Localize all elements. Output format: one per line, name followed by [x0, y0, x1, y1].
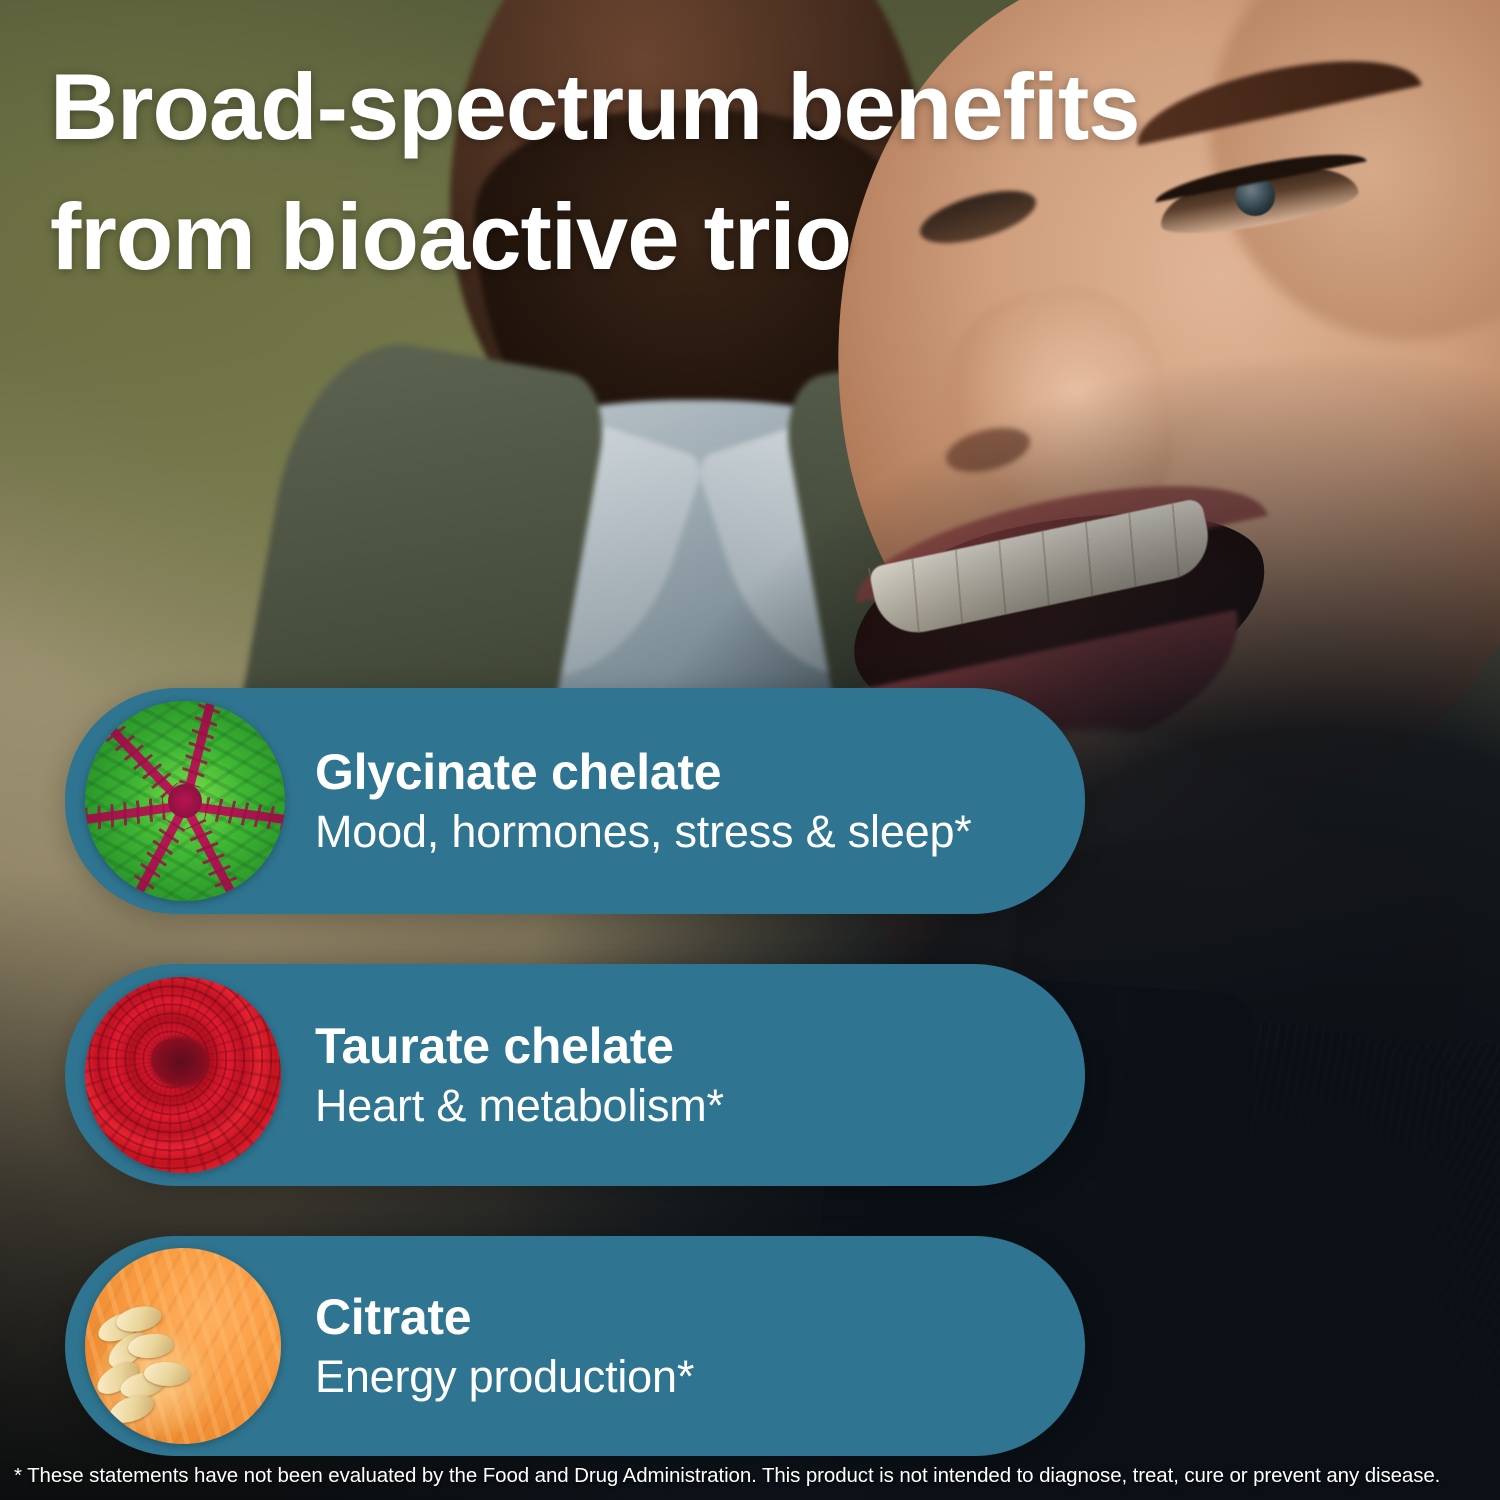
headline-line-1: Broad-spectrum benefits — [50, 54, 1140, 159]
benefit-card-taurate[interactable]: Taurate chelate Heart & metabolism* — [65, 964, 1085, 1186]
benefit-title: Taurate chelate — [315, 1019, 724, 1073]
benefit-title: Glycinate chelate — [315, 745, 972, 799]
benefit-card-text: Taurate chelate Heart & metabolism* — [315, 1019, 764, 1131]
benefit-card-list: Glycinate chelate Mood, hormones, stress… — [0, 688, 1100, 1500]
chard-leaf-icon — [85, 701, 285, 901]
product-benefit-graphic: Broad-spectrum benefits from bioactive t… — [0, 0, 1500, 1500]
benefit-card-text: Citrate Energy production* — [315, 1290, 734, 1402]
headline-line-2: from bioactive trio — [50, 172, 1250, 302]
page-title: Broad-spectrum benefits from bioactive t… — [50, 42, 1250, 301]
benefit-subtitle: Heart & metabolism* — [315, 1081, 724, 1131]
squash-slice-icon — [85, 1248, 281, 1444]
benefit-subtitle: Energy production* — [315, 1352, 694, 1402]
benefit-card-glycinate[interactable]: Glycinate chelate Mood, hormones, stress… — [65, 688, 1085, 914]
benefit-card-text: Glycinate chelate Mood, hormones, stress… — [315, 745, 1012, 857]
benefit-title: Citrate — [315, 1290, 694, 1344]
fda-disclaimer: * These statements have not been evaluat… — [14, 1464, 1490, 1488]
benefit-subtitle: Mood, hormones, stress & sleep* — [315, 807, 972, 857]
benefit-card-citrate[interactable]: Citrate Energy production* — [65, 1236, 1085, 1456]
beet-slice-icon — [85, 977, 281, 1173]
